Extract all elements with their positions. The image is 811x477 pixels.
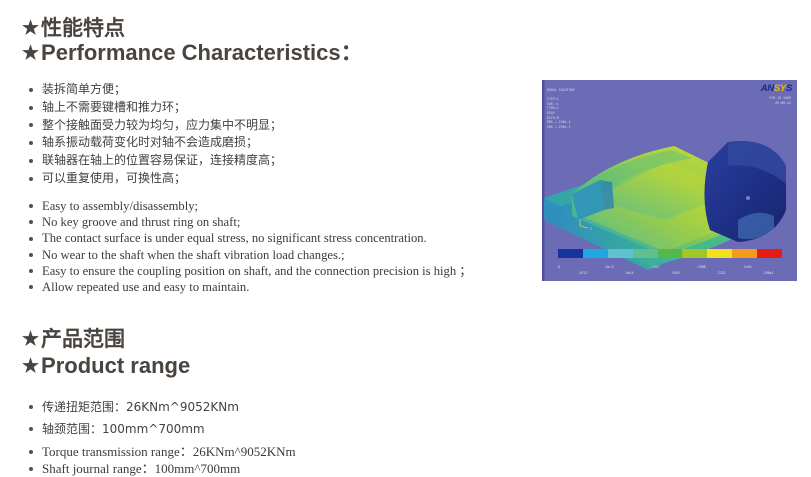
list-item-label: 轴系振动载荷变化时对轴不会造成磨损； [42, 135, 258, 149]
performance-bullets-en: Easy to assembly/disassembly; No key gro… [29, 198, 472, 295]
bullet-dot-icon [29, 253, 33, 257]
list-item: 可以重复使用，可换性高； [29, 170, 282, 188]
legend-label: .1639 [670, 271, 680, 275]
ansys-logo-part1: AN [761, 83, 774, 94]
list-item: Allow repeated use and easy to maintain. [29, 279, 472, 295]
bullet-dot-icon [29, 88, 33, 92]
legend-band [583, 249, 608, 258]
ansys-logo-part3: S [786, 83, 792, 94]
list-item-label: The contact surface is under equal stres… [42, 231, 427, 245]
bullet-dot-icon [29, 141, 33, 145]
list-item: The contact surface is under equal stres… [29, 230, 472, 246]
list-item: 联轴器在轴上的位置容易保证，连接精度高； [29, 152, 282, 170]
product-range-heading-cn: ★产品范围 [22, 327, 125, 352]
list-item: No key groove and thrust ring on shaft; [29, 214, 472, 230]
bullet-dot-icon [29, 106, 33, 110]
legend-label: .9e14 [624, 271, 634, 275]
legend-band [658, 249, 683, 258]
legend-band [558, 249, 583, 258]
list-item: Torque transmission range：26KNm^9052KNm [29, 443, 296, 460]
bullet-dot-icon [29, 269, 33, 273]
bullet-dot-icon [29, 450, 33, 454]
bullet-dot-icon [29, 427, 33, 431]
list-item-label: Easy to ensure the coupling position on … [42, 264, 472, 278]
product-range-heading-en: ★Product range [22, 352, 190, 379]
bullet-dot-icon [29, 220, 33, 224]
bullet-dot-icon [29, 159, 33, 163]
list-item: 装拆简单方便； [29, 81, 282, 99]
list-item-label: Easy to assembly/disassembly; [42, 199, 198, 213]
legend-band [608, 249, 633, 258]
list-item-label: 整个接触面受力较为均匀，应力集中不明显； [42, 118, 282, 132]
list-item-label: 可以重复使用，可换性高； [42, 171, 186, 185]
ansys-logo: ANSYS [761, 83, 792, 94]
legend-band [732, 249, 757, 258]
performance-heading-cn: ★性能特点 [22, 16, 125, 41]
product-range-bullets-en: Torque transmission range：26KNm^9052KNm … [29, 443, 296, 477]
legend-band [757, 249, 782, 258]
fea-simulation-image: Z ANSYS NODAL SOLUTION STEP=1 SUB =1 TIM… [542, 80, 797, 281]
svg-text:Z: Z [590, 227, 592, 231]
legend-label: .2e54 [742, 265, 752, 269]
legend-band [633, 249, 658, 258]
list-item-label: 联轴器在轴上的位置容易保证，连接精度高； [42, 153, 282, 167]
legend-label: .6711 [578, 271, 588, 275]
list-item: 轴系振动载荷变化时对轴不会造成磨损； [29, 134, 282, 152]
list-item: 轴颈范围：100mm^700mm [29, 418, 239, 440]
bullet-dot-icon [29, 467, 33, 471]
bullet-dot-icon [29, 204, 33, 208]
product-range-heading-cn-text: 产品范围 [41, 328, 125, 351]
fea-timestamp: FEB 18 2009 09:08:44 [769, 96, 791, 105]
bullet-dot-icon [29, 405, 33, 409]
star-icon: ★ [22, 330, 39, 349]
list-item-label: Allow repeated use and easy to maintain. [42, 280, 249, 294]
list-item: Easy to ensure the coupling position on … [29, 263, 472, 279]
bullet-dot-icon [29, 237, 33, 241]
product-range-heading-en-text: Product range [41, 353, 190, 378]
fea-color-legend [558, 249, 782, 258]
list-item-label: No wear to the shaft when the shaft vibr… [42, 248, 345, 262]
legend-band [707, 249, 732, 258]
bullet-dot-icon [29, 177, 33, 181]
bullet-dot-icon [29, 123, 33, 127]
list-item-label: 传递扭矩范围：26KNm^9052KNm [42, 400, 239, 414]
list-item: No wear to the shaft when the shaft vibr… [29, 247, 472, 263]
list-item-label: 轴上不需要键槽和推力环； [42, 100, 186, 114]
ansys-logo-part2: SY [774, 83, 786, 94]
list-item-label: Shaft journal range：100mm^700mm [42, 461, 240, 476]
legend-label: .8e-3 [604, 265, 614, 269]
star-icon: ★ [22, 44, 39, 63]
list-item: 传递扭矩范围：26KNm^9052KNm [29, 396, 239, 418]
legend-label: .296e1 [762, 271, 774, 275]
performance-bullets-cn: 装拆简单方便； 轴上不需要键槽和推力环； 整个接触面受力较为均匀，应力集中不明显… [29, 81, 282, 188]
star-icon: ★ [22, 19, 39, 38]
legend-label: 0 [558, 265, 560, 269]
fea-solution-info: NODAL SOLUTION STEP=1 SUB =1 TIME=1 SEQV… [547, 88, 574, 129]
list-item: 轴上不需要键槽和推力环； [29, 99, 282, 117]
list-item: Easy to assembly/disassembly; [29, 198, 472, 214]
list-item-label: Torque transmission range：26KNm^9052KNm [42, 444, 296, 459]
performance-heading-en-text: Performance Characteristics： [41, 40, 363, 65]
legend-label: .1988 [696, 265, 706, 269]
list-item-label: 装拆简单方便； [42, 82, 126, 96]
performance-heading-cn-text: 性能特点 [41, 17, 125, 40]
legend-label: .2322 [716, 271, 726, 275]
brochure-page: ★性能特点 ★Performance Characteristics： 装拆简单… [0, 0, 811, 477]
legend-band [682, 249, 707, 258]
list-item: 整个接触面受力较为均匀，应力集中不明显； [29, 117, 282, 135]
list-item-label: No key groove and thrust ring on shaft; [42, 215, 240, 229]
list-item: Shaft journal range：100mm^700mm [29, 460, 296, 477]
legend-label: .1317 [650, 265, 660, 269]
list-item-label: 轴颈范围：100mm^700mm [42, 422, 205, 436]
bullet-dot-icon [29, 285, 33, 289]
performance-heading-en: ★Performance Characteristics： [22, 39, 363, 66]
product-range-bullets-cn: 传递扭矩范围：26KNm^9052KNm 轴颈范围：100mm^700mm [29, 396, 239, 440]
star-icon: ★ [22, 357, 39, 376]
